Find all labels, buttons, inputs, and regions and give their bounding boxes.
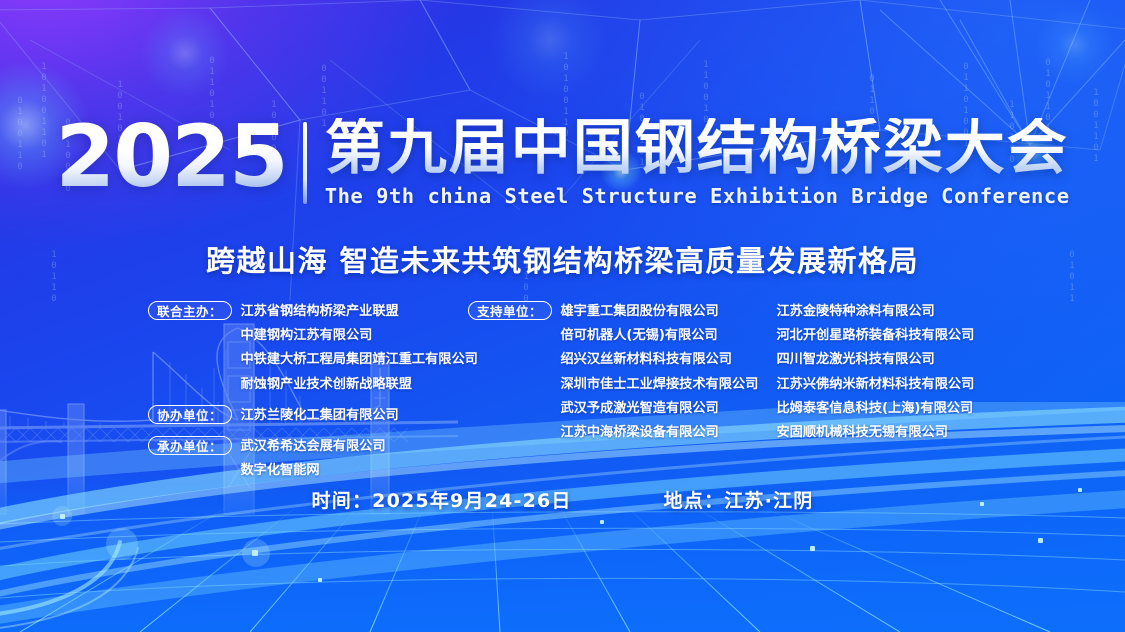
organizer-group-co-host: 协办单位： 江苏兰陵化工集团有限公司 xyxy=(148,404,468,428)
list-item: 安固顺机械科技无锡有限公司 xyxy=(777,421,978,445)
supporters-list-continued: 江苏金陵特种涂料有限公司 河北开创星路桥装备科技有限公司 四川智龙激光科技有限公… xyxy=(768,300,978,445)
organizer-group-supporters: 支持单位： 雄宇重工集团股份有限公司 倍可机器人(无锡)有限公司 绍兴汉丝新材料… xyxy=(468,300,768,445)
list-item: 雄宇重工集团股份有限公司 xyxy=(561,300,759,324)
label-supporters: 支持单位： xyxy=(468,301,552,320)
title-group: 第九届中国钢结构桥梁大会 The 9th china Steel Structu… xyxy=(307,118,1070,208)
event-date: 时间：2025年9月24-26日 xyxy=(312,486,572,513)
list-item: 江苏金陵特种涂料有限公司 xyxy=(777,300,978,324)
glow-orb xyxy=(140,8,230,98)
glow-orb xyxy=(490,0,610,100)
list-item: 倍可机器人(无锡)有限公司 xyxy=(561,324,759,348)
headline-block: 2025 第九届中国钢结构桥梁大会 The 9th china Steel St… xyxy=(0,118,1125,208)
organizers-column-right: 江苏金陵特种涂料有限公司 河北开创星路桥装备科技有限公司 四川智龙激光科技有限公… xyxy=(768,300,978,483)
organizers-column-middle: 支持单位： 雄宇重工集团股份有限公司 倍可机器人(无锡)有限公司 绍兴汉丝新材料… xyxy=(468,300,768,483)
co-host-list: 江苏兰陵化工集团有限公司 xyxy=(232,404,399,428)
conference-title-cn: 第九届中国钢结构桥梁大会 xyxy=(325,118,1070,178)
label-joint-host: 联合主办： xyxy=(148,301,232,320)
label-undertaker: 承办单位： xyxy=(148,436,232,455)
list-item: 比姆泰客信息科技(上海)有限公司 xyxy=(777,397,978,421)
conference-slogan: 跨越山海 智造未来共筑钢结构桥梁高质量发展新格局 xyxy=(0,238,1125,280)
conference-title-en: The 9th china Steel Structure Exhibition… xyxy=(325,184,1070,208)
list-item: 江苏兴佛纳米新材料科技有限公司 xyxy=(777,373,978,397)
joint-host-list: 江苏省钢结构桥梁产业联盟 中建钢构江苏有限公司 中铁建大桥工程局集团靖江重工有限… xyxy=(232,300,478,397)
supporters-list: 雄宇重工集团股份有限公司 倍可机器人(无锡)有限公司 绍兴汉丝新材料科技有限公司… xyxy=(552,300,759,445)
list-item: 江苏兰陵化工集团有限公司 xyxy=(241,404,399,428)
list-item: 绍兴汉丝新材料科技有限公司 xyxy=(561,348,759,372)
glow-orb xyxy=(1035,5,1115,85)
list-item: 江苏省钢结构桥梁产业联盟 xyxy=(241,300,478,324)
list-item: 江苏中海桥梁设备有限公司 xyxy=(561,421,759,445)
year-2025: 2025 xyxy=(55,118,302,197)
list-item: 数字化智能网 xyxy=(241,459,386,483)
label-co-host: 协办单位： xyxy=(148,405,232,424)
organizer-group-joint-host: 联合主办： 江苏省钢结构桥梁产业联盟 中建钢构江苏有限公司 中铁建大桥工程局集团… xyxy=(148,300,468,397)
list-item: 四川智龙激光科技有限公司 xyxy=(777,348,978,372)
organizer-group-undertaker: 承办单位： 武汉希希达会展有限公司 数字化智能网 xyxy=(148,435,468,483)
list-item: 中铁建大桥工程局集团靖江重工有限公司 xyxy=(241,348,478,372)
list-item: 深圳市佳士工业焊接技术有限公司 xyxy=(561,373,759,397)
event-location: 地点：江苏·江阴 xyxy=(664,486,814,513)
undertaker-list: 武汉希希达会展有限公司 数字化智能网 xyxy=(232,435,386,483)
list-item: 武汉予成激光智造有限公司 xyxy=(561,397,759,421)
organizers-section: 联合主办： 江苏省钢结构桥梁产业联盟 中建钢构江苏有限公司 中铁建大桥工程局集团… xyxy=(0,300,1125,483)
event-info-footer: 时间：2025年9月24-26日 地点：江苏·江阴 xyxy=(0,486,1125,513)
list-item: 耐蚀钢产业技术创新战略联盟 xyxy=(241,373,478,397)
conference-banner: 0100110 101001101 0110010 1001011 011010… xyxy=(0,0,1125,632)
list-item: 武汉希希达会展有限公司 xyxy=(241,435,386,459)
list-item: 中建钢构江苏有限公司 xyxy=(241,324,478,348)
organizers-column-left: 联合主办： 江苏省钢结构桥梁产业联盟 中建钢构江苏有限公司 中铁建大桥工程局集团… xyxy=(148,300,468,483)
list-item: 河北开创星路桥装备科技有限公司 xyxy=(777,324,978,348)
